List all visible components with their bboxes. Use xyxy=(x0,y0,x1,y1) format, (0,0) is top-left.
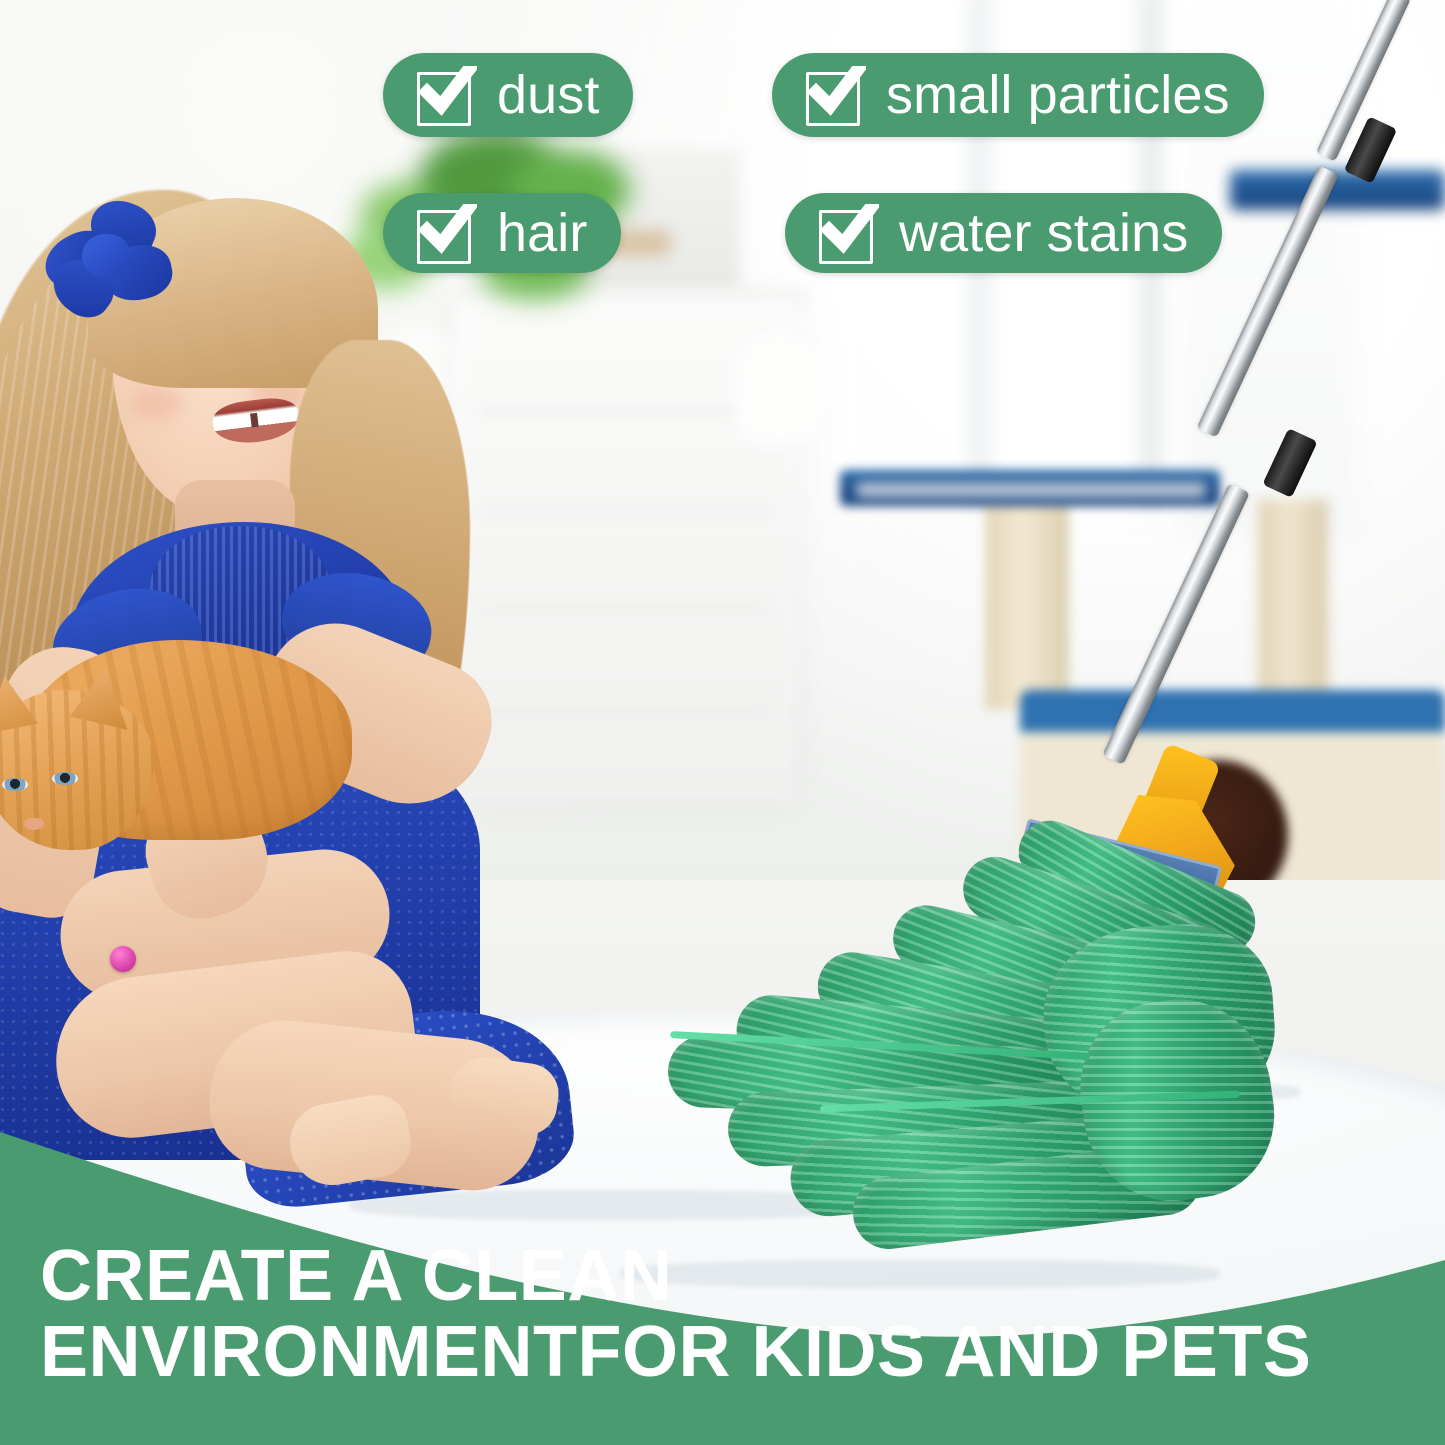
feature-label: water stains xyxy=(899,206,1188,260)
banner-line-2: ENVIRONMENTFOR KIDS AND PETS xyxy=(40,1314,1425,1390)
girl-photo-subject xyxy=(0,170,660,1180)
feature-label: hair xyxy=(497,206,587,260)
feature-pill-dust[interactable]: dust xyxy=(383,53,633,137)
checkbox-checked-icon xyxy=(819,206,873,260)
feature-pill-small-particles[interactable]: small particles xyxy=(772,53,1264,137)
bottom-banner: CREATE A CLEAN ENVIRONMENTFOR KIDS AND P… xyxy=(0,1110,1445,1445)
checkbox-checked-icon xyxy=(806,68,860,122)
feature-pill-water-stains[interactable]: water stains xyxy=(785,193,1222,273)
checkbox-checked-icon xyxy=(417,68,471,122)
product-marketing-image: dust small particles hair water stains xyxy=(0,0,1445,1445)
feature-label: dust xyxy=(497,68,599,122)
checkbox-checked-icon xyxy=(417,206,471,260)
cat-tree-post-right xyxy=(1258,500,1328,710)
cat-tree-platform-pad xyxy=(856,482,1206,498)
banner-headline: CREATE A CLEAN ENVIRONMENTFOR KIDS AND P… xyxy=(40,1238,1425,1391)
feature-pill-hair[interactable]: hair xyxy=(383,193,621,273)
vase-blurred xyxy=(735,330,825,445)
banner-line-1: CREATE A CLEAN xyxy=(40,1238,1425,1314)
blue-hair-bow xyxy=(40,200,175,320)
cat-collar-bell xyxy=(110,946,136,972)
cat-eye-left xyxy=(2,778,28,791)
cat-eye-right xyxy=(52,772,78,785)
feature-label: small particles xyxy=(886,68,1230,122)
cat-tree-post xyxy=(985,500,1069,710)
cat-nose xyxy=(24,818,44,830)
